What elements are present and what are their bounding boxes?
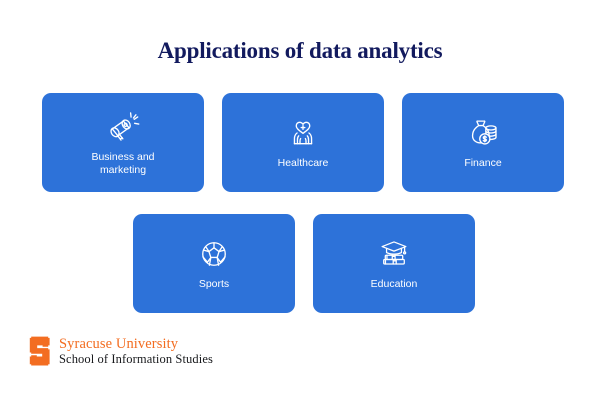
graduation-cap-books-icon	[374, 234, 414, 274]
card-label: Education	[371, 278, 418, 291]
card-business-and-marketing[interactable]: Business and marketing	[42, 93, 204, 192]
card-label: Healthcare	[278, 157, 329, 170]
megaphone-icon	[103, 107, 143, 147]
card-row-bottom: Sports Education	[133, 214, 475, 313]
card-education[interactable]: Education	[313, 214, 475, 313]
slide-canvas: Applications of data analytics	[0, 0, 600, 400]
card-sports[interactable]: Sports	[133, 214, 295, 313]
card-label: Finance	[464, 157, 501, 170]
logo-wordmark: Syracuse University School of Informatio…	[59, 337, 213, 366]
logo-school-name: School of Information Studies	[59, 353, 213, 367]
page-title: Applications of data analytics	[0, 38, 600, 64]
syracuse-block-s-icon	[28, 336, 52, 367]
card-row-top: Business and marketing Healthcare	[42, 93, 564, 192]
syracuse-university-logo: Syracuse University School of Informatio…	[28, 336, 213, 367]
card-label: Sports	[199, 278, 229, 291]
card-finance[interactable]: Finance	[402, 93, 564, 192]
card-label: Business and marketing	[91, 151, 154, 177]
soccer-ball-icon	[194, 234, 234, 274]
money-bag-coins-icon	[463, 113, 503, 153]
card-healthcare[interactable]: Healthcare	[222, 93, 384, 192]
hands-heart-icon	[283, 113, 323, 153]
logo-university-name: Syracuse University	[59, 337, 213, 353]
